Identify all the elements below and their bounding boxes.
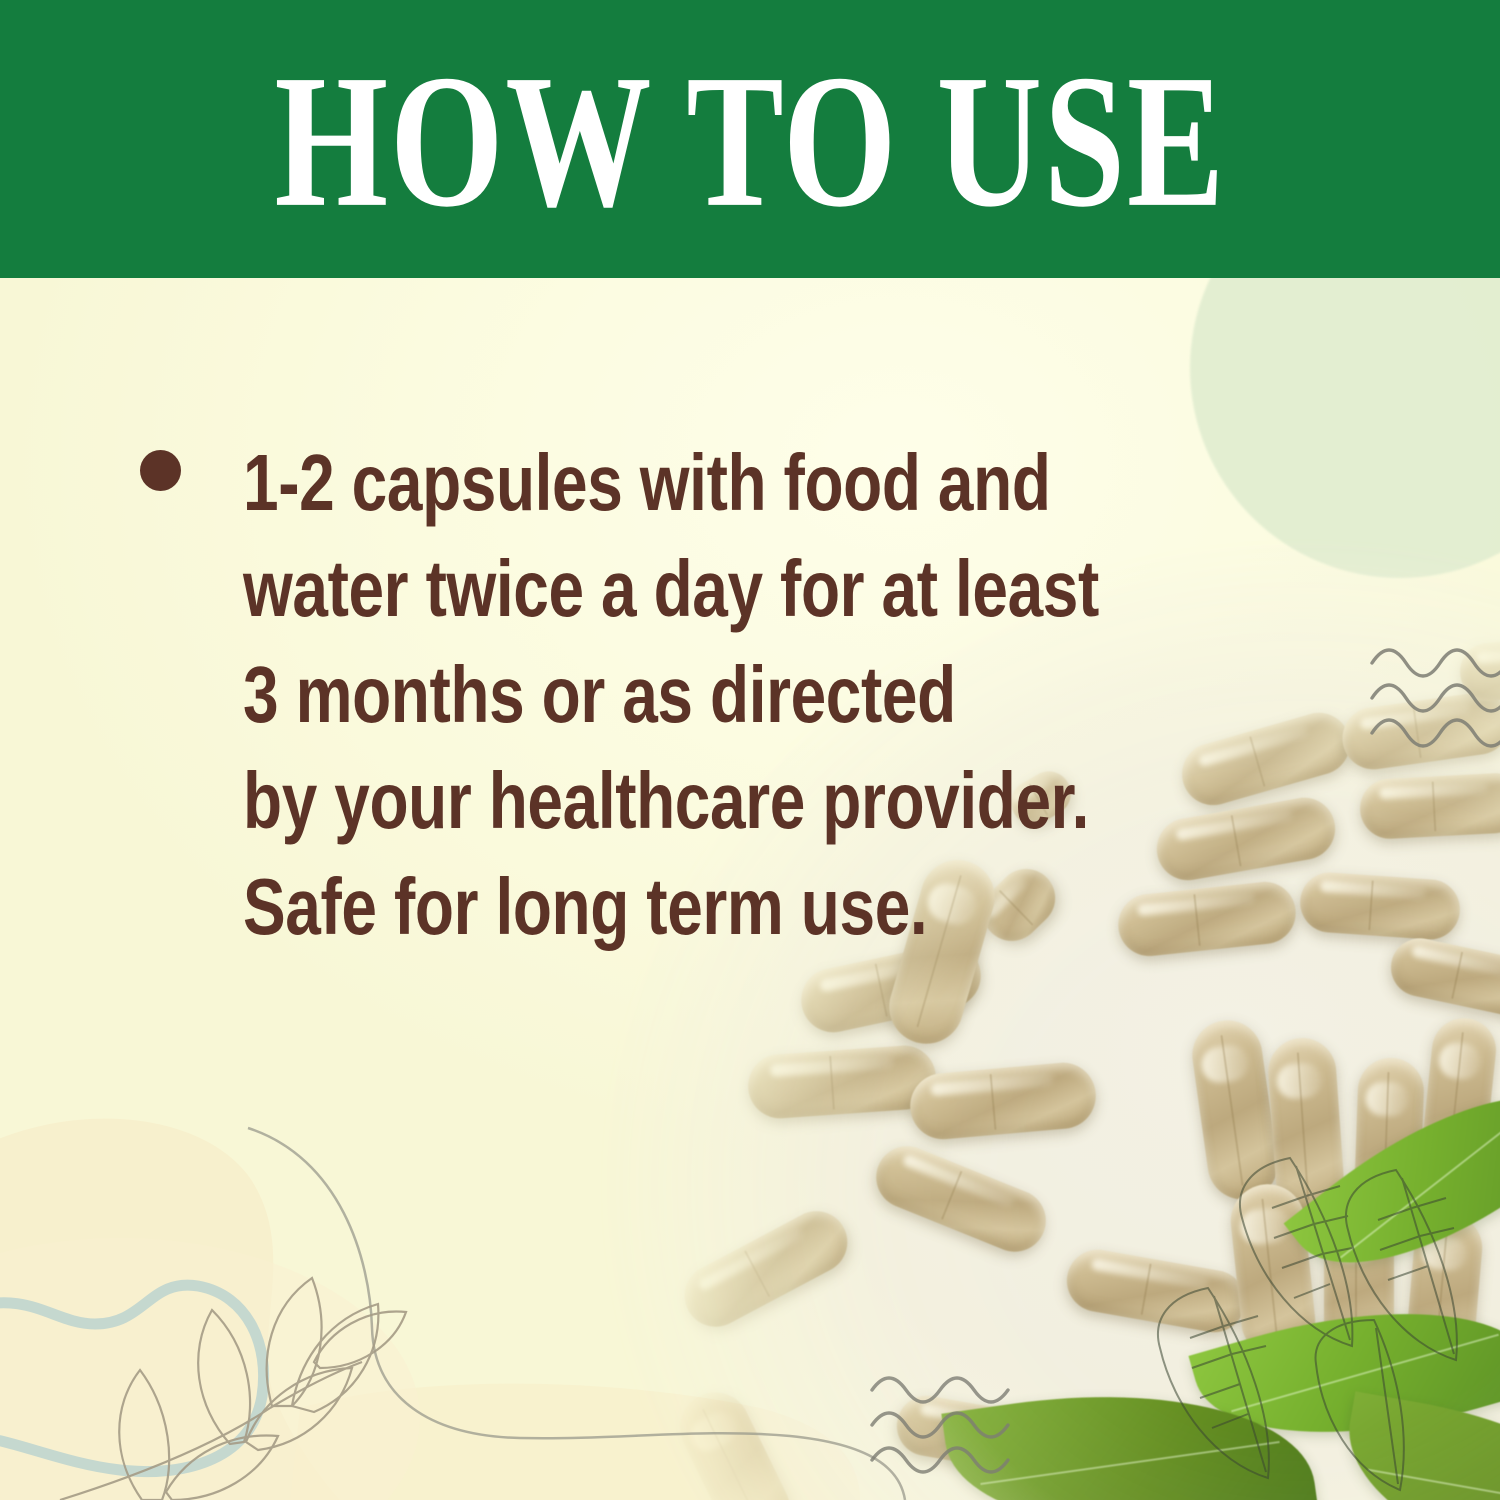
header-banner: HOW TO USE — [0, 0, 1500, 278]
page-title: HOW TO USE — [274, 46, 1226, 236]
capsule — [1359, 772, 1500, 841]
capsules-photo — [600, 378, 1500, 1500]
capsule — [1298, 870, 1462, 941]
poster-canvas: HOW TO USE 1-2 capsules with food and wa… — [0, 0, 1500, 1500]
capsule — [746, 1044, 938, 1121]
